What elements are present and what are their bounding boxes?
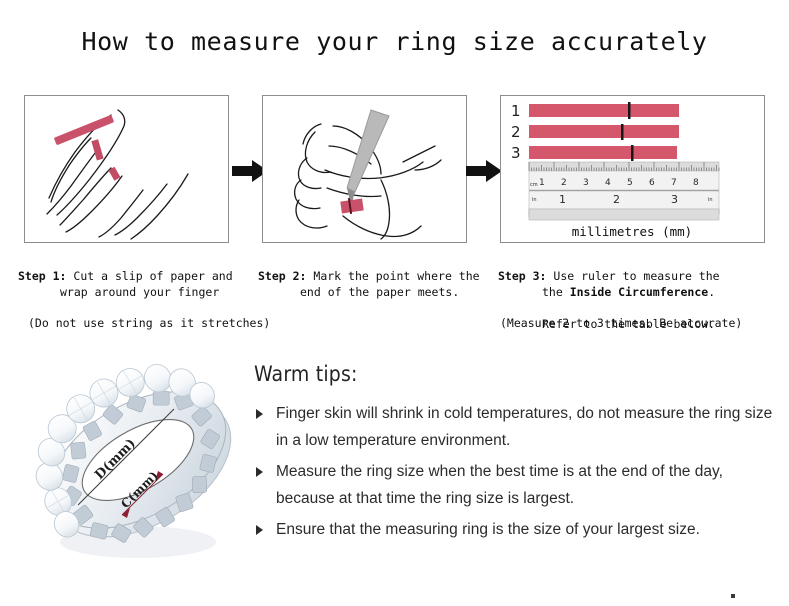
page-title: How to measure your ring size accurately [0, 27, 789, 56]
svg-text:1: 1 [559, 193, 566, 206]
measured-paper-strips [529, 102, 679, 161]
step-1-illustration [25, 96, 228, 242]
warm-tip-item-1: Finger skin will shrink in cold temperat… [254, 400, 774, 454]
ring-size-guide-page: How to measure your ring size accurately [0, 0, 789, 606]
svg-text:3: 3 [583, 178, 589, 188]
svg-text:cm: cm [530, 182, 538, 188]
warm-tip-text-2: Measure the ring size when the best time… [276, 463, 723, 507]
step-2-line2: end of the paper meets. [258, 284, 493, 300]
svg-text:5: 5 [627, 178, 633, 188]
warm-tip-text-1: Finger skin will shrink in cold temperat… [276, 405, 772, 449]
corner-artifact [731, 594, 735, 598]
svg-text:2: 2 [561, 178, 567, 188]
paper-strip-wrapped [91, 139, 120, 180]
step-3-caption: Step 3: Use ruler to measure the the Ins… [498, 252, 773, 348]
warm-tips-heading: Warm tips: [254, 362, 774, 386]
warm-tip-text-3: Ensure that the measuring ring is the si… [276, 521, 700, 538]
warm-tips-section: Warm tips: Finger skin will shrink in co… [254, 362, 774, 547]
bullet-triangle-icon [256, 525, 263, 535]
step-2-panel [262, 95, 467, 243]
step-1-caption: Step 1: Cut a slip of paper and wrap aro… [18, 252, 253, 316]
step-3-panel: 1 2 3 1 [500, 95, 765, 243]
step-3-line2-tail: . [708, 285, 715, 299]
step-1-label: Step 1: [18, 269, 66, 283]
warm-tip-item-3: Ensure that the measuring ring is the si… [254, 516, 774, 543]
step-3-line2: the Inside Circumference. [498, 284, 773, 300]
step-1-panel [24, 95, 229, 243]
step-3-line1: Use ruler to measure the [553, 269, 719, 283]
step-3-line2-lead: the [542, 285, 570, 299]
svg-text:6: 6 [649, 178, 655, 188]
arrow-right-icon-2 [466, 160, 502, 182]
step-3-illustration: 1 2 3 1 [501, 96, 764, 242]
strip-number-3: 3 [511, 144, 521, 162]
warm-tip-item-2: Measure the ring size when the best time… [254, 458, 774, 512]
step-3-label: Step 3: [498, 269, 546, 283]
inside-circumference-emphasis: Inside Circumference [570, 285, 708, 299]
bullet-triangle-icon [256, 409, 263, 419]
ruler-caption: millimetres (mm) [572, 224, 692, 239]
svg-text:7: 7 [671, 178, 677, 188]
paper-strip-marked [340, 198, 363, 214]
ruler: 1 2 3 4 5 6 7 8 cm 1 2 3 i [529, 162, 719, 220]
svg-text:1: 1 [539, 178, 545, 188]
svg-text:4: 4 [605, 178, 611, 188]
step-3-note: (Measure 2 to 3 times. Be accurate) [500, 316, 742, 330]
svg-text:3: 3 [671, 193, 678, 206]
step-2-illustration [263, 96, 466, 242]
svg-text:in: in [532, 197, 537, 203]
pen [347, 110, 389, 206]
step-1-line2: wrap around your finger [18, 284, 253, 300]
step-2-label: Step 2: [258, 269, 306, 283]
step-1-note: (Do not use string as it stretches) [28, 316, 270, 330]
strip-number-1: 1 [511, 102, 521, 120]
svg-text:in: in [708, 197, 713, 203]
step-1-line1: Cut a slip of paper and [73, 269, 232, 283]
step-2-line1: Mark the point where the [313, 269, 479, 283]
svg-text:8: 8 [693, 178, 699, 188]
step-2-caption: Step 2: Mark the point where the end of … [258, 252, 493, 316]
ring-diagram: D(mm) C(mm) [22, 352, 254, 574]
strip-number-2: 2 [511, 123, 521, 141]
svg-text:2: 2 [613, 193, 620, 206]
bullet-triangle-icon [256, 467, 263, 477]
